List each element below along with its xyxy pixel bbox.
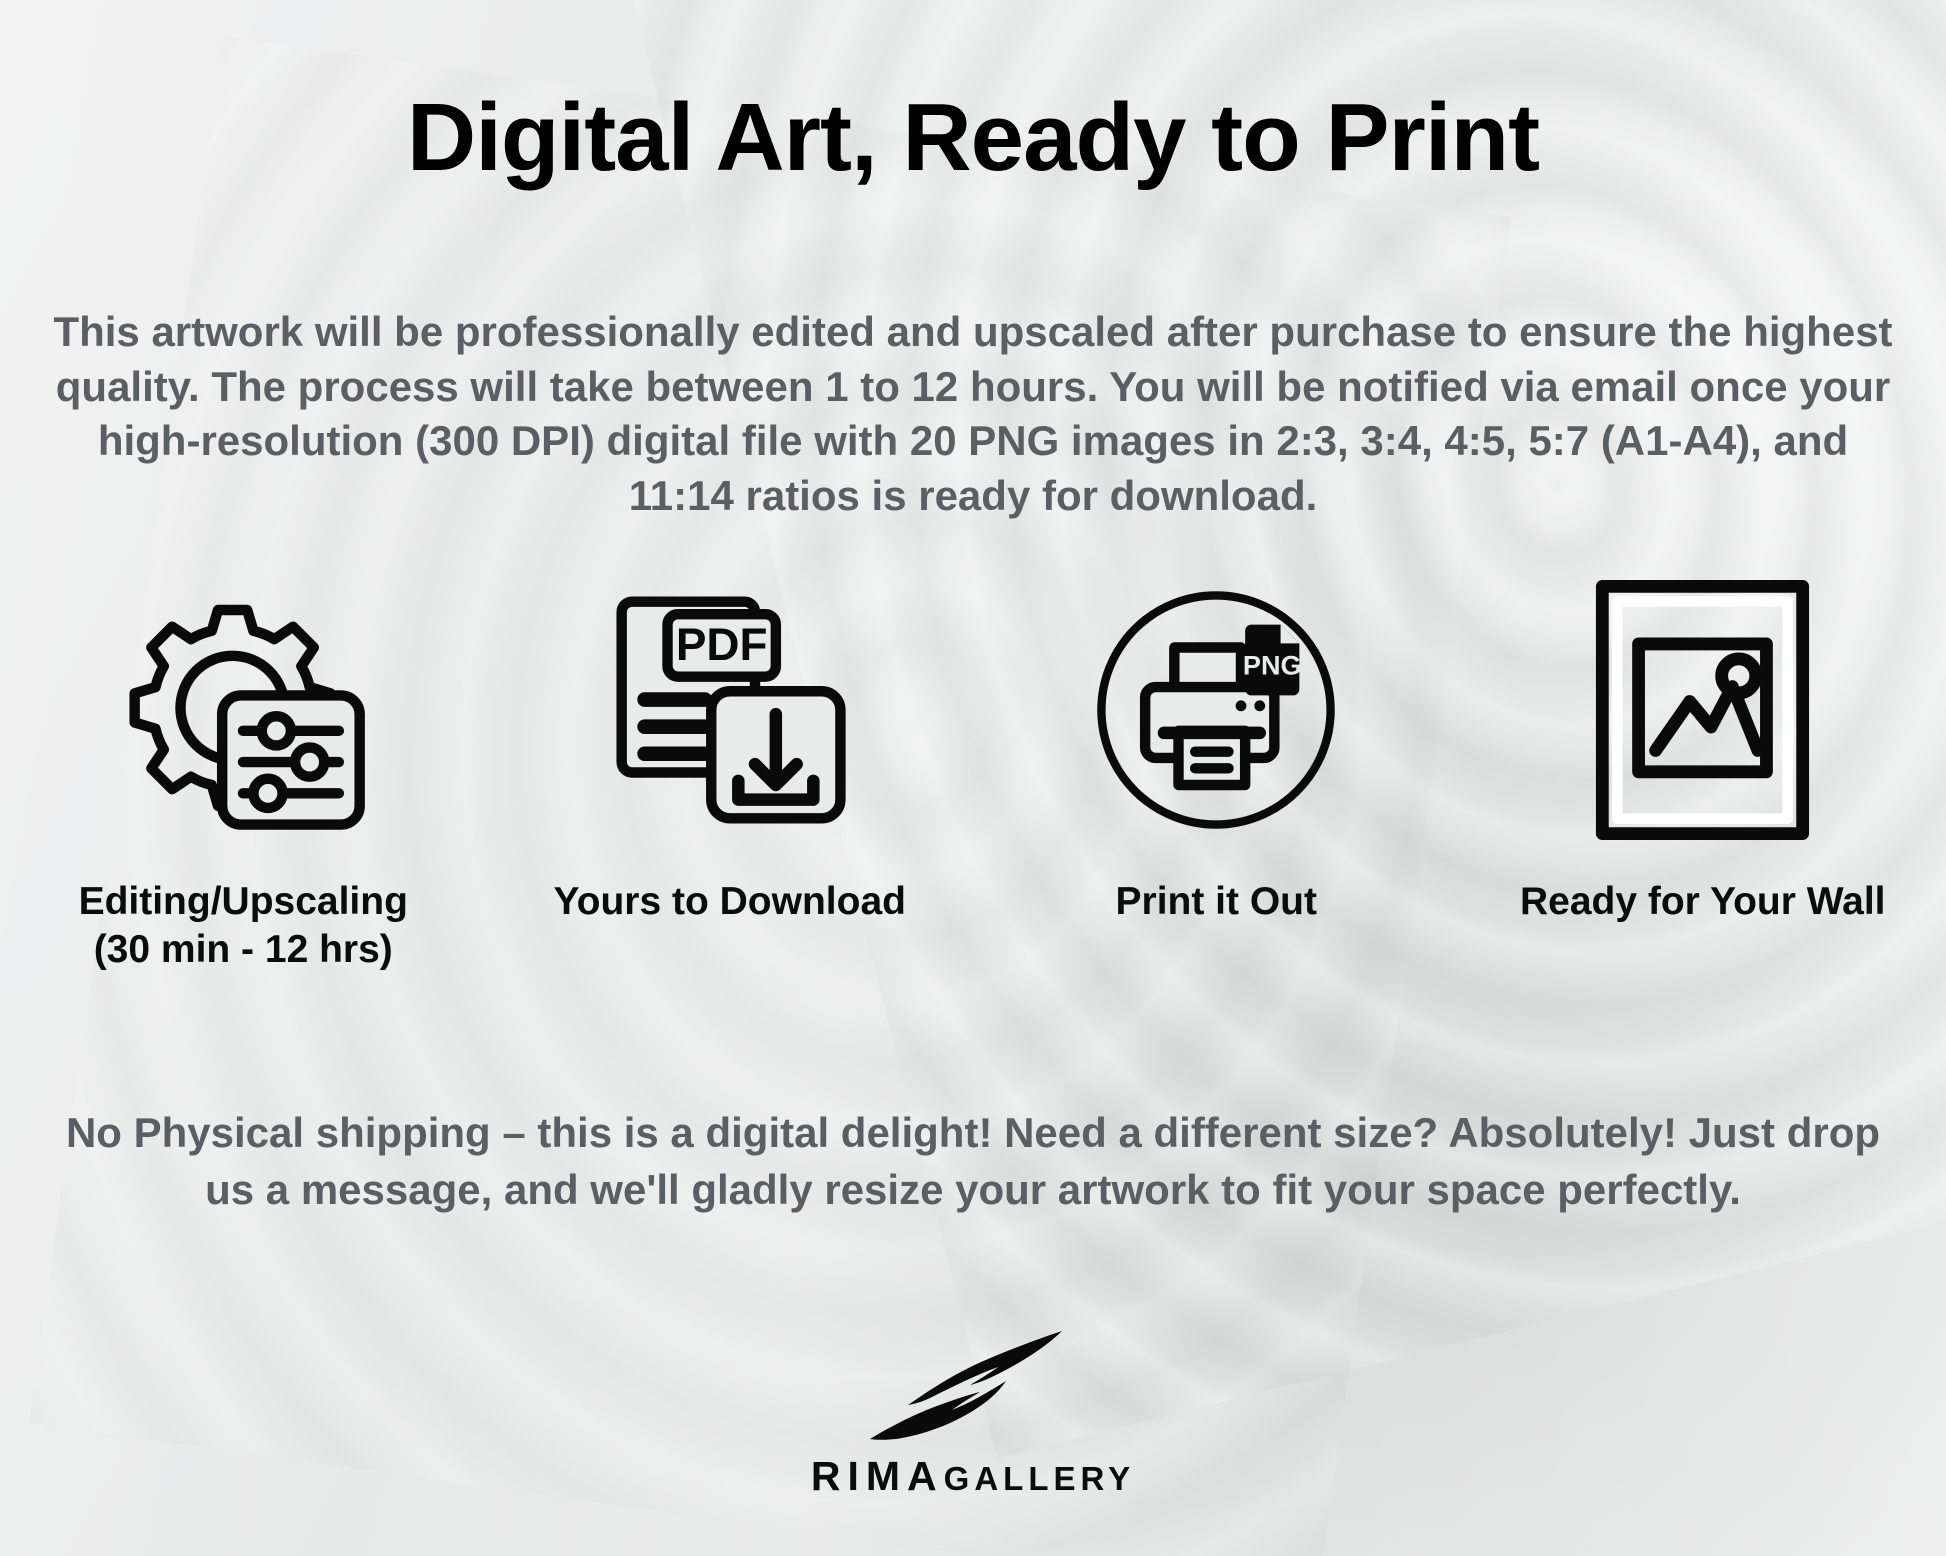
feature-label-line-1: Editing/Upscaling xyxy=(79,878,408,926)
brand-name-secondary: GALLERY xyxy=(944,1460,1135,1498)
feature-item-wall: Ready for Your Wall xyxy=(1488,560,1918,926)
feature-item-editing-upscaling: Editing/Upscaling (30 min - 12 hrs) xyxy=(28,560,458,973)
pdf-download-icon: PDF xyxy=(605,560,855,860)
brand-wordmark: RIMA GALLERY xyxy=(811,1453,1135,1500)
feature-label-wall: Ready for Your Wall xyxy=(1520,878,1886,926)
brand-name-primary: RIMA xyxy=(811,1453,944,1500)
printer-circle-icon: PNG xyxy=(1091,560,1341,860)
poster-canvas: Digital Art, Ready to Print This artwork… xyxy=(0,0,1946,1556)
gear-sliders-icon xyxy=(118,560,368,860)
feature-label-editing-upscaling: Editing/Upscaling (30 min - 12 hrs) xyxy=(79,878,408,973)
page-title: Digital Art, Ready to Print xyxy=(0,88,1946,189)
framed-picture-icon xyxy=(1595,560,1810,860)
poster-content: Digital Art, Ready to Print This artwork… xyxy=(0,0,1946,1556)
feature-row: Editing/Upscaling (30 min - 12 hrs) PDF xyxy=(0,560,1946,973)
feature-item-download: PDF Yours to Download xyxy=(515,560,945,926)
png-badge-text: PNG xyxy=(1243,650,1302,681)
pdf-badge-text: PDF xyxy=(676,619,768,670)
rima-swoosh-icon xyxy=(848,1317,1098,1447)
feature-label-download: Yours to Download xyxy=(554,878,906,926)
feature-label-line-2: (30 min - 12 hrs) xyxy=(79,926,408,974)
feature-label-print: Print it Out xyxy=(1116,878,1317,926)
brand-logo: RIMA GALLERY xyxy=(0,1317,1946,1500)
feature-item-print: PNG Print it Out xyxy=(1001,560,1431,926)
intro-paragraph: This artwork will be professionally edit… xyxy=(46,305,1900,523)
outro-paragraph: No Physical shipping – this is a digital… xyxy=(60,1105,1886,1218)
